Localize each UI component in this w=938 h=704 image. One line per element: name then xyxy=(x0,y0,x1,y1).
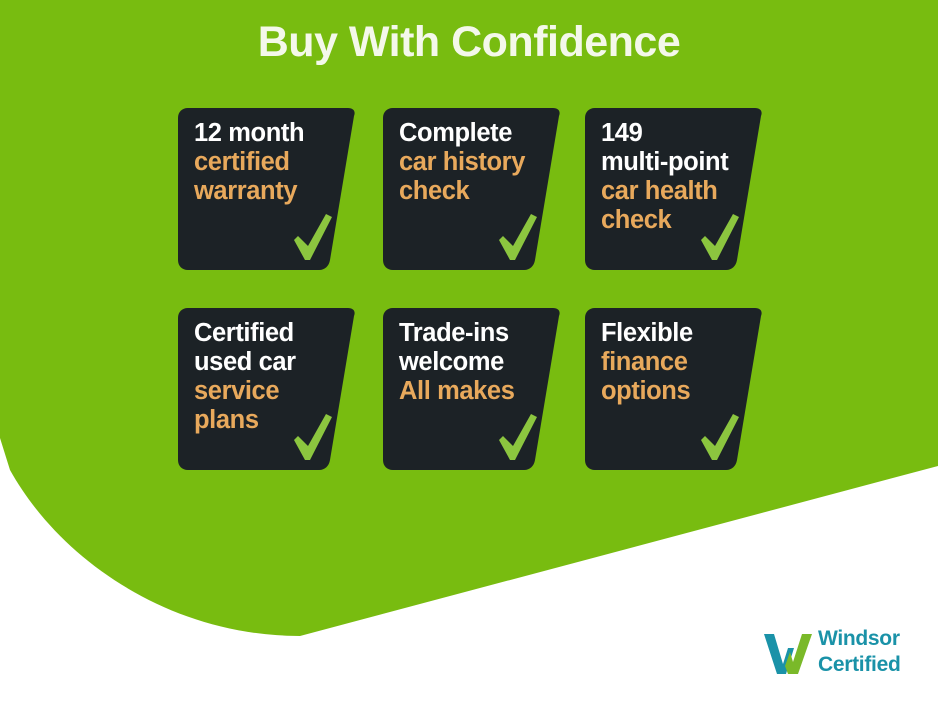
windsor-w-mark-icon xyxy=(762,630,814,678)
feature-card[interactable]: 12 month certified warranty xyxy=(178,108,356,270)
feature-card[interactable]: Trade-ins welcome All makes xyxy=(383,308,561,470)
card-line-white: 12 month xyxy=(194,119,346,148)
card-text: 12 month certified warranty xyxy=(194,119,346,206)
card-line-orange: options xyxy=(601,377,753,406)
windsor-certified-logo[interactable]: Windsor Certified xyxy=(762,626,922,684)
check-mark-icon xyxy=(495,212,541,264)
card-text: Flexible finance options xyxy=(601,319,753,406)
promo-banner: Buy With Confidence 12 month certified w… xyxy=(0,0,938,704)
check-mark-icon xyxy=(697,212,743,264)
card-line-orange: certified xyxy=(194,148,346,177)
card-line-white: used car xyxy=(194,348,346,377)
feature-card[interactable]: Certified used car service plans xyxy=(178,308,356,470)
card-line-orange: car history xyxy=(399,148,551,177)
card-text: Complete car history check xyxy=(399,119,551,206)
card-line-orange: car health xyxy=(601,177,753,206)
card-line-white: Trade-ins xyxy=(399,319,551,348)
card-line-orange: warranty xyxy=(194,177,346,206)
card-line-orange: All makes xyxy=(399,377,551,406)
card-line-orange: finance xyxy=(601,348,753,377)
feature-card[interactable]: Complete car history check xyxy=(383,108,561,270)
page-title: Buy With Confidence xyxy=(0,18,938,67)
card-text: Trade-ins welcome All makes xyxy=(399,319,551,406)
card-line-white: Flexible xyxy=(601,319,753,348)
card-line-white: 149 xyxy=(601,119,753,148)
feature-card[interactable]: 149 multi-point car health check xyxy=(585,108,763,270)
logo-line-2: Certified xyxy=(818,652,900,678)
card-line-white: multi-point xyxy=(601,148,753,177)
check-mark-icon xyxy=(495,412,541,464)
check-mark-icon xyxy=(290,412,336,464)
card-line-orange: check xyxy=(399,177,551,206)
check-mark-icon xyxy=(290,212,336,264)
card-line-white: Certified xyxy=(194,319,346,348)
logo-line-1: Windsor xyxy=(818,626,900,652)
card-line-white: welcome xyxy=(399,348,551,377)
logo-wordmark: Windsor Certified xyxy=(818,626,900,679)
check-mark-icon xyxy=(697,412,743,464)
feature-card[interactable]: Flexible finance options xyxy=(585,308,763,470)
card-line-orange: service xyxy=(194,377,346,406)
card-line-white: Complete xyxy=(399,119,551,148)
